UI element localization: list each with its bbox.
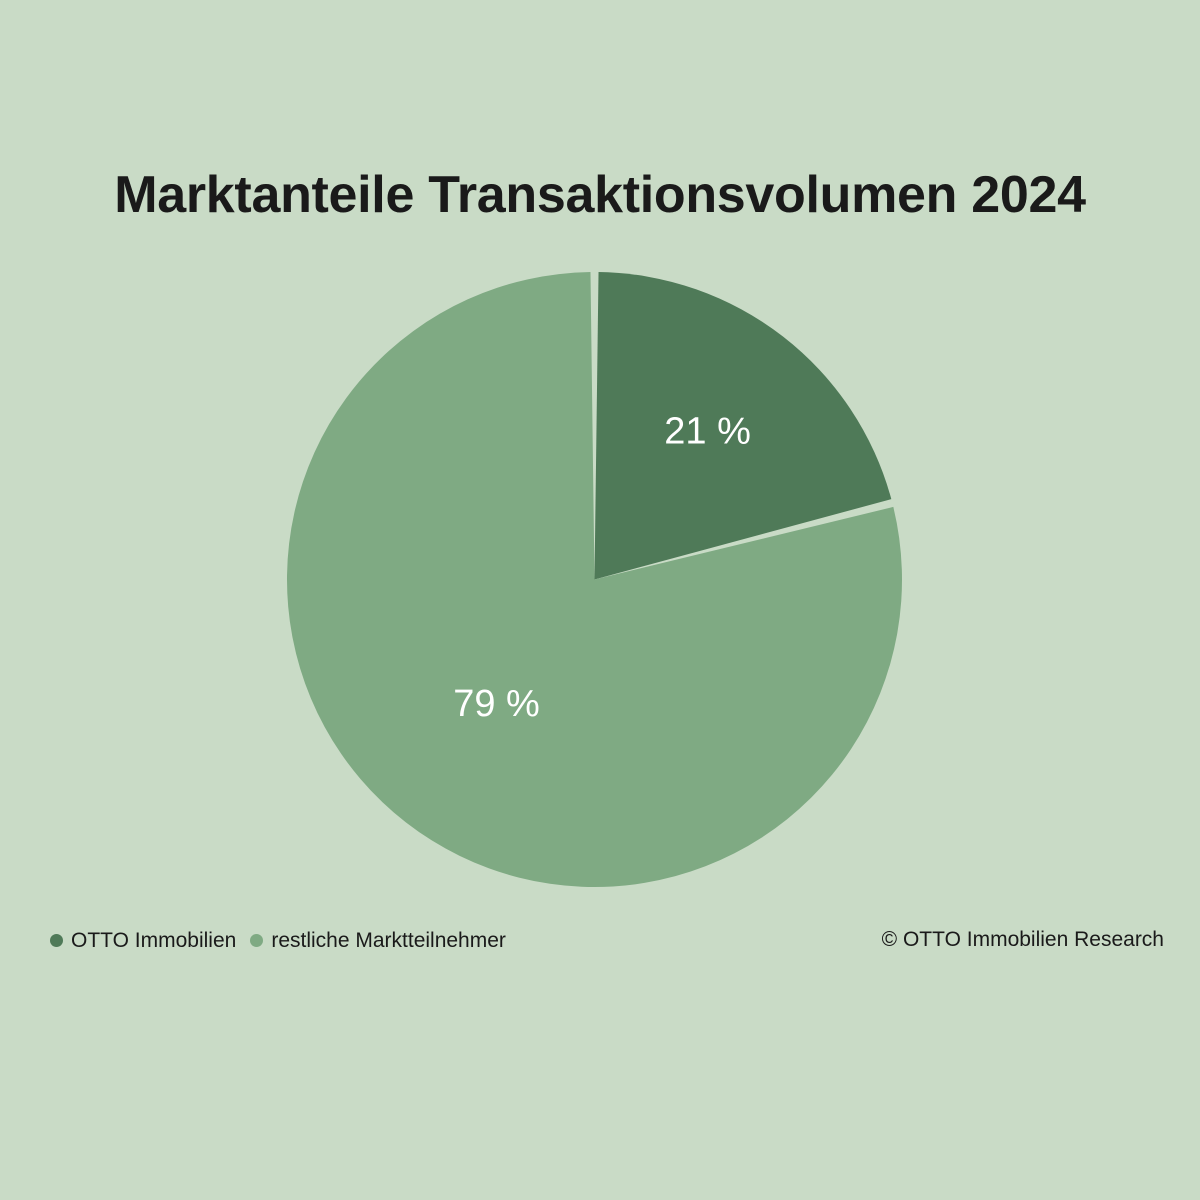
pie-chart: 21 % 79 % — [287, 272, 902, 887]
pie-chart-svg: 21 % 79 % — [287, 272, 902, 887]
legend-item-label: restliche Marktteilnehmer — [271, 930, 506, 951]
legend-color-swatch-icon — [250, 934, 263, 947]
legend-color-swatch-icon — [50, 934, 63, 947]
legend-item-otto-immobilien[interactable]: OTTO Immobilien — [50, 930, 236, 951]
chart-legend: OTTO Immobilien restliche Marktteilnehme… — [50, 925, 506, 955]
chart-title: Marktanteile Transaktionsvolumen 2024 — [0, 167, 1200, 223]
chart-canvas: Marktanteile Transaktionsvolumen 2024 21… — [0, 0, 1200, 1200]
pie-slice-label-restliche-marktteilnehmer: 79 % — [453, 683, 540, 725]
legend-item-label: OTTO Immobilien — [71, 930, 236, 951]
pie-slice-label-otto-immobilien: 21 % — [664, 411, 751, 453]
source-attribution: © OTTO Immobilien Research — [882, 925, 1164, 955]
legend-item-restliche-marktteilnehmer[interactable]: restliche Marktteilnehmer — [250, 930, 506, 951]
